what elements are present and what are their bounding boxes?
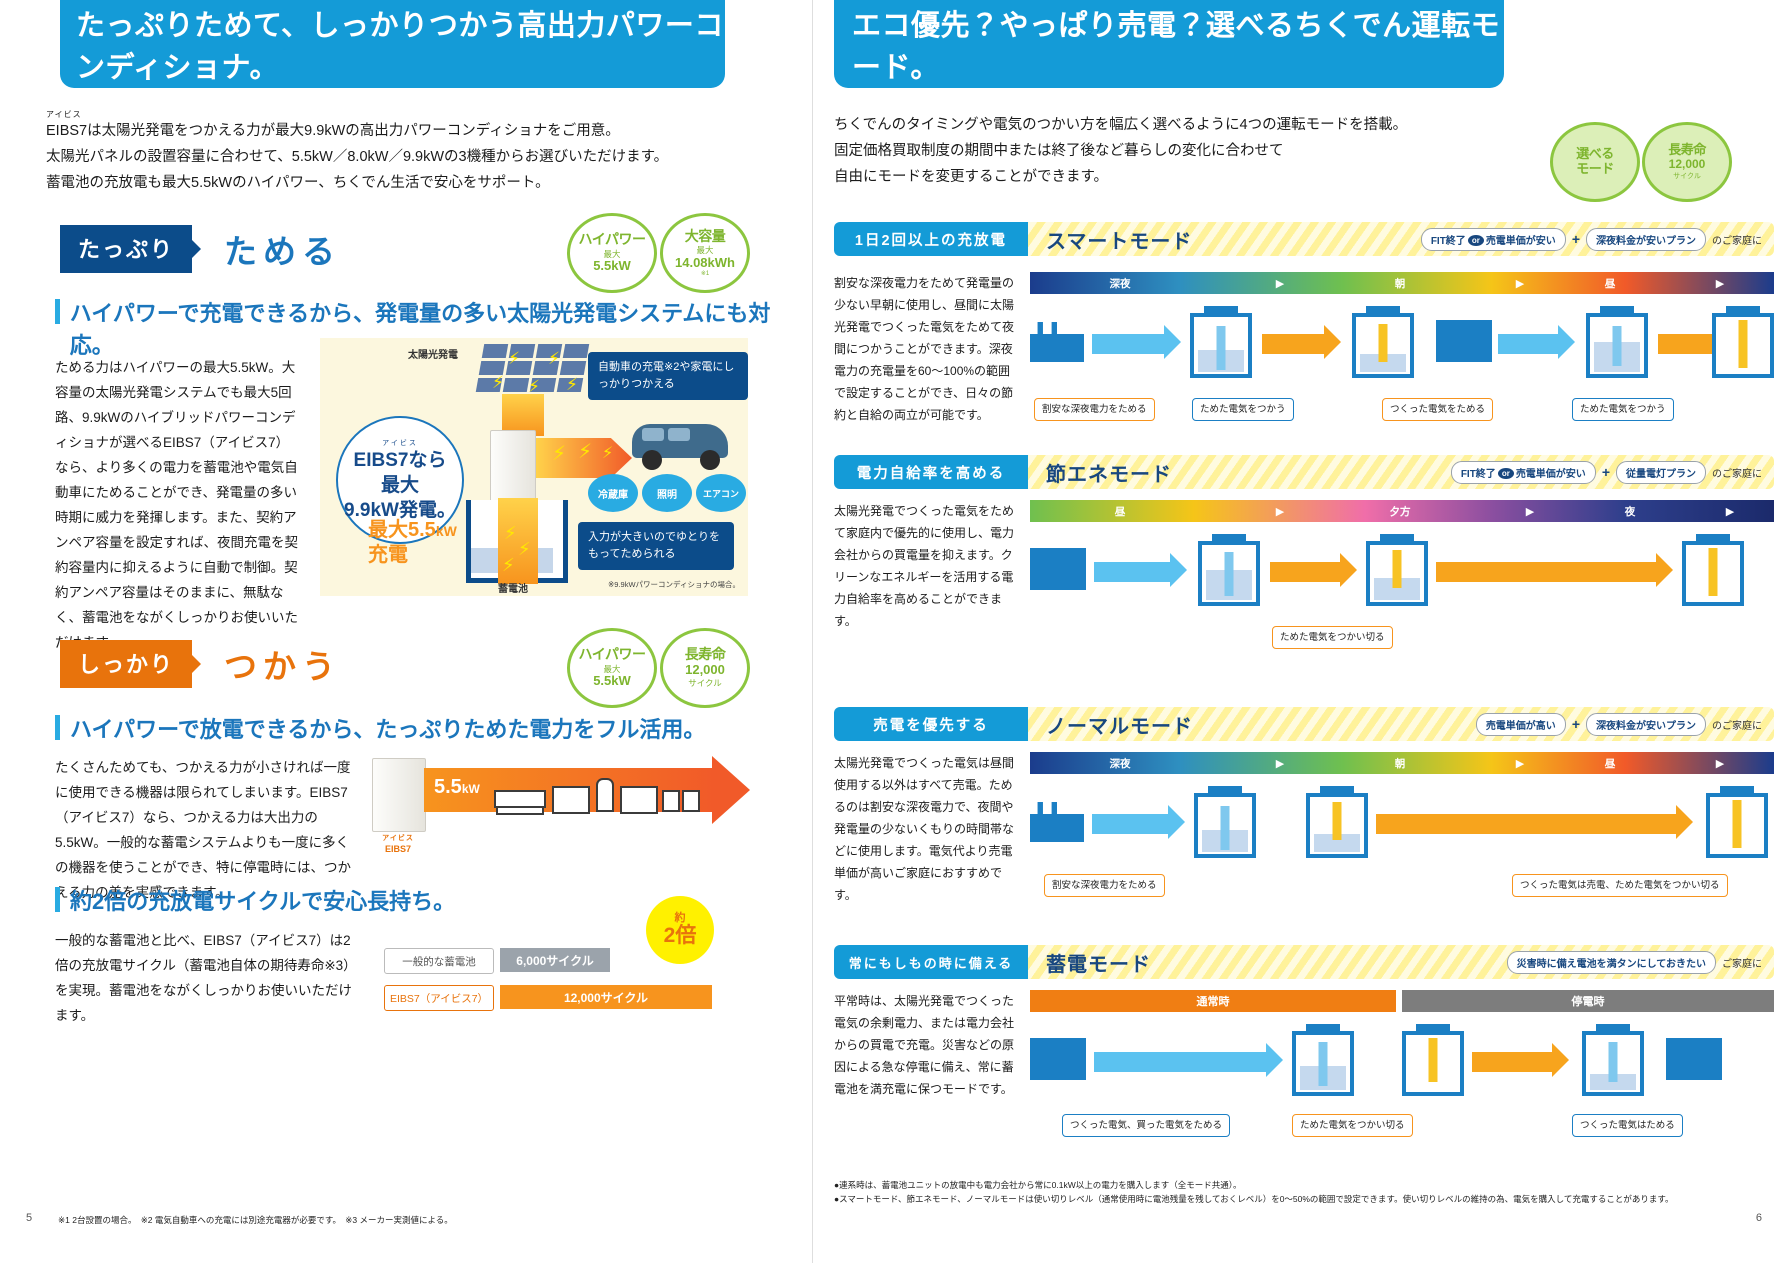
mode-category-smart: 1日2回以上の充放電 [834, 222, 1028, 256]
mode-header-chikuden[interactable]: 常にもしもの時に備える 蓄電モード 災害時に備え電池を満タンにしておきたい ご家… [834, 945, 1774, 979]
badge-selectable-mode: 選べる モード [1550, 122, 1640, 202]
mode-badges-chikuden: 災害時に備え電池を満タンにしておきたい ご家庭に [1507, 951, 1774, 974]
headline-text: ハイパワーで放電できるから、たっぷりためた電力をフル活用。 [70, 712, 705, 744]
headline-accent-bar [55, 887, 60, 912]
car-wheel [642, 450, 662, 470]
or-pill: or [1468, 235, 1484, 246]
timeline-arrow: ▶ [1276, 757, 1284, 770]
house-icon [1666, 1038, 1722, 1080]
flow-tag-chikuden-1: つくった電気、買った電気をためる [1062, 1114, 1230, 1137]
flow-tag-setsune-1: ためた電気をつかい切る [1272, 626, 1393, 649]
page-number-right: 6 [1756, 1212, 1762, 1224]
section-word-tsukau: つかう [224, 640, 341, 688]
bolt-icon: ⚡ [578, 442, 592, 462]
battery-icon [1706, 786, 1768, 858]
bolt-icon: ⚡ [552, 444, 566, 464]
flow-arrow-head [1340, 553, 1357, 587]
flow-tag-normal-1: 割安な深夜電力をためる [1044, 874, 1165, 897]
mode-name-setsune: 節エネモード [1046, 458, 1172, 487]
timeline-arrow: ▶ [1726, 505, 1734, 518]
appliance-monitor-icon [620, 786, 658, 814]
timeline-arrow: ▶ [1516, 757, 1524, 770]
right-lead-line-2: 固定価格買取制度の期間中または終了後など暮らしの変化に合わせて [834, 138, 1534, 164]
section-tag-shikkari: しっかり [60, 640, 192, 688]
badge-night-plan-smart: 深夜料金が安いプラン [1586, 228, 1706, 251]
badge-capacity-tameru: 大容量 最大 14.08kWh ※1 [660, 213, 750, 293]
flow-arrow [1376, 814, 1676, 834]
timeline-label: 昼 [1605, 276, 1616, 291]
badge-line-2: モード [1576, 162, 1614, 177]
badge-value: 5.5kW [593, 674, 631, 689]
timeline-arrow: ▶ [1276, 277, 1284, 290]
flow-tag-normal-2: つくった電気は売電、ためた電気をつかい切る [1512, 874, 1728, 897]
figure-tameru: 太陽光発電 ⚡ ⚡ ⚡ ⚡ ⚡ アイビス EIBS7なら 最大 9.9kW発電。… [320, 338, 748, 596]
cycle-row2-bar: 12,000サイクル [500, 985, 712, 1009]
bolt-icon: ⚡ [548, 350, 560, 367]
battery-icon [1194, 786, 1256, 858]
body-copy-tameru: ためる力はハイパワーの最大5.5kW。大容量の太陽光発電システムでも最大5回路、… [55, 355, 300, 655]
flow-arrow [1270, 562, 1340, 582]
mode-header-smart[interactable]: 1日2回以上の充放電 スマートモード FIT終了or売電単価が安い + 深夜料金… [834, 222, 1774, 256]
charge-power-label: 最大5.5kW 充電 [368, 518, 457, 567]
timeline-label: 昼 [1115, 504, 1126, 519]
battery-icon [1292, 1024, 1354, 1096]
timeline-label: 朝 [1395, 276, 1406, 291]
flow-tag-chikuden-3: つくった電気はためる [1572, 1114, 1683, 1137]
flow-arrow [1262, 334, 1324, 354]
badge-fit-end-smart: FIT終了or売電単価が安い [1421, 228, 1566, 251]
bolt-icon: ⚡ [602, 446, 613, 462]
badge-tail-normal: のご家庭に [1712, 717, 1762, 732]
car-window [668, 428, 690, 441]
discharge-value: 5.5 [434, 776, 462, 798]
mode-badges-smart: FIT終了or売電単価が安い + 深夜料金が安いプラン のご家庭に [1421, 228, 1774, 251]
house-icon [1436, 320, 1492, 362]
flow-arrow [1436, 562, 1656, 582]
battery-icon [1352, 306, 1414, 378]
flow-arrow-head [1170, 553, 1187, 587]
car-window [642, 428, 664, 441]
mode-name-normal: ノーマルモード [1046, 710, 1193, 739]
section-header-tsukau: しっかり つかう [60, 640, 341, 688]
flow-tag-smart-3: つくった電気をためる [1382, 398, 1493, 421]
badge-hipower-tsukau: ハイパワー 最大 5.5kW [567, 628, 657, 708]
flow-tag-smart-2: ためた電気をつかう [1192, 398, 1294, 421]
timeline-bar-setsune: 昼 ▶ 夕方 ▶ 夜 ▶ 深夜 [1030, 500, 1774, 522]
flow-arrow-head [1558, 325, 1575, 359]
timeline-label: 深夜 [1110, 276, 1131, 291]
headline-text: 約2倍の充放電サイクルで安心長持ち。 [70, 884, 455, 916]
lead-line-2: 太陽光パネルの設置容量に合わせて、5.5kW／8.0kW／9.9kWの3機種から… [46, 144, 786, 170]
footnote-line-2: ●スマートモード、節エネモード、ノーマルモードは使い切りレベル（通常使用時に電池… [834, 1192, 1764, 1206]
mode-category-chikuden: 常にもしもの時に備える [834, 945, 1028, 979]
badge-tail-smart: のご家庭に [1712, 232, 1762, 247]
mode-badges-normal: 売電単価が高い + 深夜料金が安いプラン のご家庭に [1476, 713, 1774, 736]
badge-high-sale-normal: 売電単価が高い [1476, 713, 1566, 736]
flow-diagram-setsune [1030, 532, 1774, 632]
appliance-pill-aircon: エアコン [696, 474, 746, 512]
flow-arrow-head [1552, 1043, 1569, 1077]
badge-title: ハイパワー [579, 647, 646, 663]
badge-fit-end-setsune: FIT終了or売電単価が安い [1451, 461, 1596, 484]
badge-title: ハイパワー [579, 232, 646, 248]
mode-copy-smart: 割安な深夜電力をためて発電量の少ない早朝に使用し、昼間に太陽光発電でつくった電気… [834, 272, 1016, 426]
flow-arrow-head [1324, 325, 1341, 359]
or-pill: or [1498, 468, 1514, 479]
appliance-pill-fridge: 冷蔵庫 [588, 474, 638, 512]
flow-arrow-head [1168, 805, 1185, 839]
flow-arrow [1092, 334, 1164, 354]
bolt-icon: ⚡ [504, 524, 517, 542]
flow-tag-chikuden-2: ためた電気をつかい切る [1292, 1114, 1413, 1137]
mode-name-smart: スマートモード [1046, 225, 1192, 254]
mode-badges-setsune: FIT終了or売電単価が安い + 従量電灯プラン のご家庭に [1451, 461, 1774, 484]
badge-note: ※1 [701, 271, 709, 278]
right-lead-line-3: 自由にモードを変更することができます。 [834, 164, 1534, 190]
mode-strip-setsune: 節エネモード FIT終了or売電単価が安い + 従量電灯プラン のご家庭に [1028, 455, 1774, 489]
mode-strip-chikuden: 蓄電モード 災害時に備え電池を満タンにしておきたい ご家庭に [1028, 945, 1774, 979]
house-icon [1030, 548, 1086, 590]
flow-diagram-chikuden [1030, 1022, 1774, 1122]
section-tag-tappuri: たっぷり [60, 225, 192, 273]
discharge-power-label: 5.5kW [434, 776, 480, 799]
headline-accent-bar [55, 715, 60, 740]
discharge-arrow-head [712, 756, 750, 824]
bubble-line-1: EIBS7なら [354, 448, 447, 473]
plus-sign: + [1602, 464, 1610, 480]
timeline-arrow: ▶ [1276, 505, 1284, 518]
mode-strip-normal: ノーマルモード 売電単価が高い + 深夜料金が安いプラン のご家庭に [1028, 707, 1774, 741]
section-word-tameru: ためる [224, 225, 341, 273]
flow-diagram-normal [1030, 784, 1774, 884]
burst-big-text: 2倍 [664, 925, 697, 947]
lead-line-1: EIBS7は太陽光発電をつかえる力が最大9.9kWの高出力パワーコンディショナを… [46, 118, 786, 144]
left-footnotes: ※1 2台設置の場合。 ※2 電気自動車への充電には別途充電器が必要です。 ※3… [58, 1214, 453, 1226]
appliance-lamp-icon [596, 778, 614, 812]
battery-icon [1682, 534, 1744, 606]
figure-note: ※9.9kWパワーコンディショナの場合。 [608, 579, 740, 590]
battery-icon [1198, 534, 1260, 606]
badge-hipower-tameru: ハイパワー 最大 5.5kW [567, 213, 657, 293]
flow-arrow-head [1266, 1043, 1283, 1077]
body-copy-cycle: 一般的な蓄電池と比べ、EIBS7（アイビス7）は2倍の充放電サイクル（蓄電池自体… [55, 928, 355, 1028]
bolt-icon: ⚡ [566, 376, 578, 393]
timeline-arrow: ▶ [1716, 277, 1724, 290]
figure-solar-label: 太陽光発電 [408, 346, 458, 361]
appliance-small-icon [682, 790, 700, 812]
badge-line-3: サイクル [1673, 173, 1701, 181]
flow-arrow [1472, 1052, 1552, 1072]
left-page-banner: たっぷりためて、しっかりつかう高出力パワーコンディショナ。 [60, 0, 725, 88]
bolt-icon: ⚡ [502, 556, 515, 574]
callout-input-large: 入力が大きいのでゆとりをもってためられる [578, 522, 734, 570]
flow-arrow-head [1676, 805, 1693, 839]
mode-category-normal: 売電を優先する [834, 707, 1028, 741]
badge-value: 12,000 [685, 663, 725, 678]
badge-unit: サイクル [688, 679, 722, 689]
timeline-arrow: ▶ [1716, 757, 1724, 770]
segment-normal-time: 通常時 [1030, 990, 1396, 1012]
battery-icon [1190, 306, 1252, 378]
power-conditioner-unit [490, 430, 536, 504]
timeline-bar-smart: 深夜 ▶ 朝 ▶ 昼 ▶ 夜 [1030, 272, 1774, 294]
eibs7-unit-icon [372, 758, 426, 832]
cycle-row2-label: EIBS7（アイビス7） [384, 985, 494, 1011]
badge-tail-chikuden: ご家庭に [1722, 955, 1762, 970]
timeline-arrow: ▶ [1526, 505, 1534, 518]
flow-tag-smart-4: ためた電気をつかう [1572, 398, 1674, 421]
badge-value: 5.5kW [593, 259, 631, 274]
flow-arrow [1092, 814, 1168, 834]
mode-header-setsune[interactable]: 電力自給率を高める 節エネモード FIT終了or売電単価が安い + 従量電灯プラ… [834, 455, 1774, 489]
flow-diagram-smart [1030, 304, 1774, 404]
plus-sign: + [1572, 231, 1580, 247]
battery-icon [1712, 306, 1774, 378]
mode-strip-smart: スマートモード FIT終了or売電単価が安い + 深夜料金が安いプラン のご家庭… [1028, 222, 1774, 256]
cycle-row1-label: 一般的な蓄電池 [384, 948, 494, 974]
timeline-arrow: ▶ [1516, 277, 1524, 290]
headline-tsukau: ハイパワーで放電できるから、たっぷりためた電力をフル活用。 [55, 712, 775, 744]
bolt-icon: ⚡ [528, 378, 540, 395]
page-left: たっぷりためて、しっかりつかう高出力パワーコンディショナ。 アイビス EIBS7… [0, 0, 812, 1263]
flow-arrow-head [1656, 553, 1673, 587]
eibs7-ruby: アイビス [382, 835, 414, 842]
battery-icon [1402, 1024, 1464, 1096]
right-page-banner: エコ優先？やっぱり売電？選べるちくでん運転モード。 [834, 0, 1504, 88]
charge-power-value: 最大5.5 [368, 519, 436, 541]
section-header-tameru: たっぷり ためる [60, 225, 341, 273]
battery-icon [1586, 306, 1648, 378]
page-right: エコ優先？やっぱり売電？選べるちくでん運転モード。 ちくでんのタイミングや電気の… [812, 0, 1788, 1263]
badge-title: 長寿命 [685, 647, 726, 663]
flow-tag-smart-1: 割安な深夜電力をためる [1034, 398, 1155, 421]
lead-line-3: 蓄電池の充放電も最大5.5kWのハイパワー、ちくでん生活で安心をサポート。 [46, 170, 786, 196]
badge-title: 大容量 [685, 229, 726, 245]
eibs7-name: EIBS7 [366, 844, 430, 855]
bubble-ruby: アイビス [382, 438, 418, 448]
timeline-label: 夕方 [1390, 504, 1411, 519]
callout-car-charge: 自動車の充電※2や家電にしっかりつかえる [588, 352, 748, 400]
mode-copy-normal: 太陽光発電でつくった電気は昼間使用する以外はすべて売電。ためるのは割安な深夜電力… [834, 752, 1016, 906]
battery-icon [1582, 1024, 1644, 1096]
flow-arrow [1094, 562, 1170, 582]
right-lead-block: ちくでんのタイミングや電気のつかい方を幅広く選べるように4つの運転モードを搭載。… [834, 112, 1534, 190]
appliance-pill-light: 照明 [642, 474, 692, 512]
factory-icon [1030, 802, 1084, 842]
badge-longlife-right: 長寿命 12,000 サイクル [1642, 122, 1732, 202]
appliance-small-icon [662, 790, 680, 812]
cycle-row1-bar: 6,000サイクル [500, 948, 610, 972]
battery-icon [1306, 786, 1368, 858]
left-lead-block: アイビス EIBS7は太陽光発電をつかえる力が最大9.9kWの高出力パワーコンデ… [46, 110, 786, 196]
mode-copy-chikuden: 平常時は、太陽光発電でつくった電気の余剰電力、または電力会社からの買電で充電。災… [834, 990, 1016, 1100]
appliance-device-icon [496, 806, 544, 815]
timeline-label: 朝 [1395, 756, 1406, 771]
flow-arrow-head [1164, 325, 1181, 359]
flow-arrow [1658, 334, 1714, 354]
plus-sign: + [1572, 716, 1580, 732]
mode-copy-setsune: 太陽光発電でつくった電気をためて家庭内で優先的に使用し、電力会社からの買電量を抑… [834, 500, 1016, 632]
badge-plan-setsune: 従量電灯プラン [1616, 461, 1706, 484]
bubble-line-2: 最大 [381, 473, 419, 498]
segment-outage-time: 停電時 [1402, 990, 1774, 1012]
car-wheel [700, 450, 720, 470]
figure-battery-label: 蓄電池 [498, 580, 528, 595]
cycle-burst-badge: 約 2倍 [646, 896, 714, 964]
right-footnotes: ●連系時は、蓄電池ユニットの放電中も電力会社から常に0.1kW以上の電力を購入し… [834, 1178, 1764, 1206]
house-icon [1030, 1038, 1086, 1080]
body-copy-tsukau: たくさんためても、つかえる力が小さければ一度に使用できる機器は限られてしまいます… [55, 755, 355, 905]
footnote-line-1: ●連系時は、蓄電池ユニットの放電中も電力会社から常に0.1kW以上の電力を購入し… [834, 1178, 1764, 1192]
bolt-icon: ⚡ [518, 540, 531, 558]
battery-icon [1366, 534, 1428, 606]
eibs7-caption: アイビス EIBS7 [366, 832, 430, 855]
timeline-label: 夜 [1625, 504, 1636, 519]
bolt-icon: ⚡ [492, 374, 504, 391]
flow-arrow [1498, 334, 1558, 354]
discharge-unit: kW [462, 782, 480, 796]
mode-header-normal[interactable]: 売電を優先する ノーマルモード 売電単価が高い + 深夜料金が安いプラン のご家… [834, 707, 1774, 741]
charge-power-word: 充電 [368, 543, 457, 567]
timeline-label: 深夜 [1110, 756, 1131, 771]
page-number-left: 5 [26, 1212, 32, 1224]
headline-accent-bar [55, 299, 60, 324]
right-lead-line-1: ちくでんのタイミングや電気のつかい方を幅広く選べるように4つの運転モードを搭載。 [834, 112, 1534, 138]
factory-icon [1030, 322, 1084, 362]
badge-tail-setsune: のご家庭に [1712, 465, 1762, 480]
badge-line-1: 長寿命 [1668, 143, 1706, 158]
mode-name-chikuden: 蓄電モード [1046, 948, 1151, 977]
timeline-label: 昼 [1605, 756, 1616, 771]
charge-power-unit: kW [436, 523, 457, 539]
badge-value: 14.08kWh [675, 256, 735, 271]
appliance-tv-icon [552, 786, 590, 814]
flow-arrow [1094, 1052, 1266, 1072]
badge-disaster-chikuden: 災害時に備え電池を満タンにしておきたい [1507, 951, 1716, 974]
timeline-bar-normal: 深夜 ▶ 朝 ▶ 昼 ▶ 夜 [1030, 752, 1774, 774]
badge-line-2: 12,000 [1669, 158, 1706, 171]
bolt-icon: ⚡ [508, 350, 520, 367]
badge-longlife-tsukau: 長寿命 12,000 サイクル [660, 628, 750, 708]
mode-category-setsune: 電力自給率を高める [834, 455, 1028, 489]
badge-night-plan-normal: 深夜料金が安いプラン [1586, 713, 1706, 736]
badge-line-1: 選べる [1576, 147, 1614, 162]
